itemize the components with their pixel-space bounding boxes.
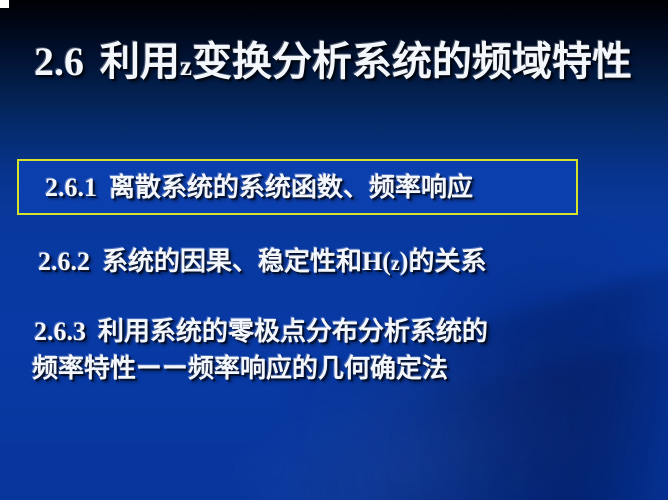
outline-item-262[interactable]: 2.6.2系统的因果、稳定性和H(z)的关系 bbox=[38, 242, 486, 283]
item-263-line1: 2.6.3利用系统的零极点分布分析系统的 bbox=[34, 316, 488, 346]
slide-title: 2.6利用z变换分析系统的频域特性 bbox=[34, 36, 632, 92]
title-text-before-z: 利用 bbox=[100, 40, 180, 84]
corner-marker bbox=[0, 0, 9, 8]
item-262-number: 2.6.2 bbox=[38, 247, 90, 276]
item-261-label: 离散系统的系统函数、频率响应 bbox=[109, 172, 473, 202]
title-variable-z: z bbox=[180, 51, 192, 81]
item-263-number: 2.6.3 bbox=[34, 317, 86, 346]
item-262-label-after: 的关系 bbox=[408, 246, 486, 276]
item-262-label-before: 系统的因果、稳定性和 bbox=[102, 246, 362, 276]
formula-h-open: H( bbox=[362, 247, 391, 276]
item-263-label-line1: 利用系统的零极点分布分析系统的 bbox=[98, 316, 488, 346]
title-number: 2.6 bbox=[34, 39, 84, 84]
item-261-number: 2.6.1 bbox=[45, 173, 97, 202]
item-263-label-line2: 频率特性ーー频率响应的几何确定法 bbox=[32, 350, 488, 387]
title-text-after-z: 变换分析系统的频域特性 bbox=[192, 40, 632, 84]
formula-variable-z: z bbox=[391, 253, 400, 275]
item-262-formula: H(z) bbox=[362, 247, 408, 276]
slide-canvas: 2.6利用z变换分析系统的频域特性 2.6.1离散系统的系统函数、频率响应 2.… bbox=[0, 0, 668, 500]
outline-item-261[interactable]: 2.6.1离散系统的系统函数、频率响应 bbox=[45, 168, 473, 207]
outline-item-263[interactable]: 2.6.3利用系统的零极点分布分析系统的 频率特性ーー频率响应的几何确定法 bbox=[34, 313, 488, 387]
